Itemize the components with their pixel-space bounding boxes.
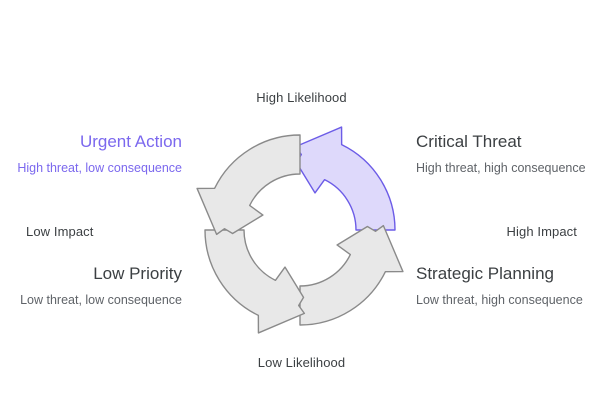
quadrant-description-strategic-planning: Low threat, high consequence [416, 292, 596, 308]
quadrant-description-urgent-action: High threat, low consequence [2, 160, 182, 176]
quadrant-description-low-priority: Low threat, low consequence [2, 292, 182, 308]
axis-label-low-impact: Low Impact [26, 224, 93, 239]
quadrant-label-strategic-planning[interactable]: Strategic Planning Low threat, high cons… [416, 263, 596, 308]
quadrant-title-urgent-action: Urgent Action [2, 131, 182, 152]
quadrant-description-critical-threat: High threat, high consequence [416, 160, 596, 176]
cycle-segment-low-priority[interactable] [197, 135, 300, 234]
quadrant-label-low-priority[interactable]: Low Priority Low threat, low consequence [2, 263, 182, 308]
quadrant-title-low-priority: Low Priority [2, 263, 182, 284]
cycle-segment-critical-threat[interactable] [300, 226, 403, 325]
quadrant-title-strategic-planning: Strategic Planning [416, 263, 596, 284]
cycle-arrow-diagram [190, 124, 410, 336]
cycle-segment-urgent-action[interactable] [296, 127, 395, 230]
cycle-segment-strategic-planning[interactable] [205, 230, 304, 333]
quadrant-title-critical-threat: Critical Threat [416, 131, 596, 152]
axis-label-high-impact: High Impact [507, 224, 577, 239]
axis-label-low-likelihood: Low Likelihood [0, 355, 603, 370]
quadrant-label-urgent-action[interactable]: Urgent Action High threat, low consequen… [2, 131, 182, 176]
axis-label-high-likelihood: High Likelihood [0, 90, 603, 105]
quadrant-label-critical-threat[interactable]: Critical Threat High threat, high conseq… [416, 131, 596, 176]
diagram-canvas: High Likelihood Low Likelihood Low Impac… [0, 0, 603, 420]
